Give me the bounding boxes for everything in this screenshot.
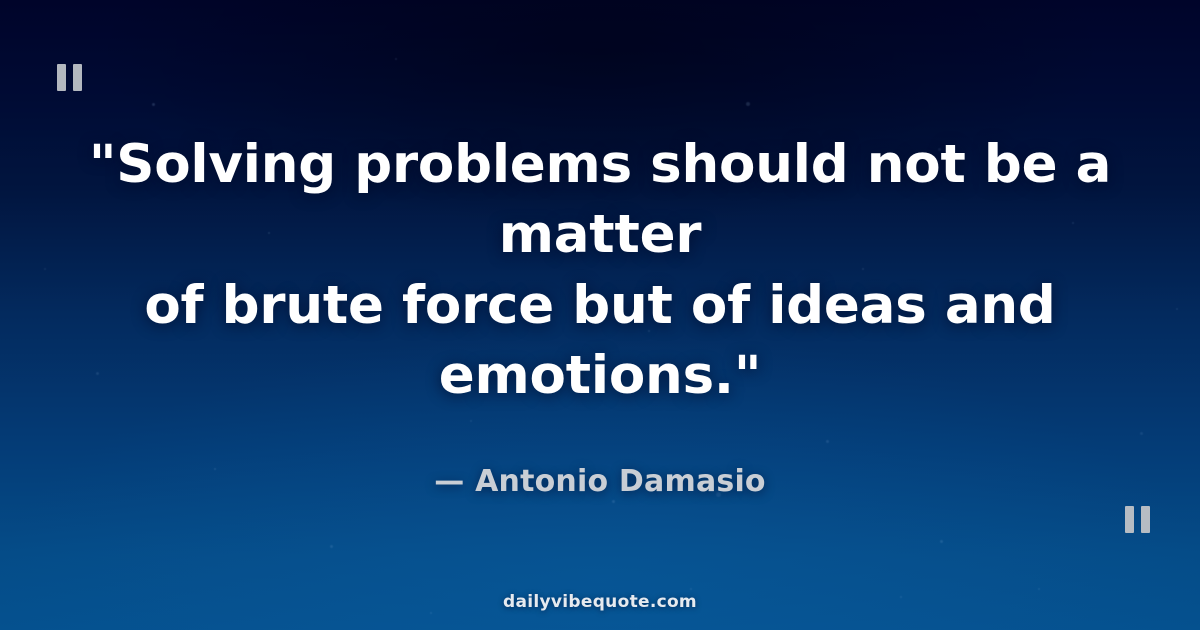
- footer: dailyvibequote.com: [0, 592, 1200, 612]
- quote-content: "Solving problems should not be a matter…: [0, 130, 1200, 499]
- quote-author: — Antonio Damasio: [48, 464, 1152, 499]
- quote-bar-left: [1125, 506, 1134, 533]
- quote-mark-icon-bottom: [1125, 506, 1150, 533]
- footer-site-label: dailyvibequote.com: [503, 592, 697, 612]
- quote-bar-right: [1141, 506, 1150, 533]
- quote-bar-right: [73, 64, 82, 91]
- quote-bar-left: [57, 64, 66, 91]
- quote-mark-icon-top: [57, 64, 82, 91]
- quote-card: "Solving problems should not be a matter…: [0, 0, 1200, 630]
- quote-text: "Solving problems should not be a matter…: [48, 130, 1152, 412]
